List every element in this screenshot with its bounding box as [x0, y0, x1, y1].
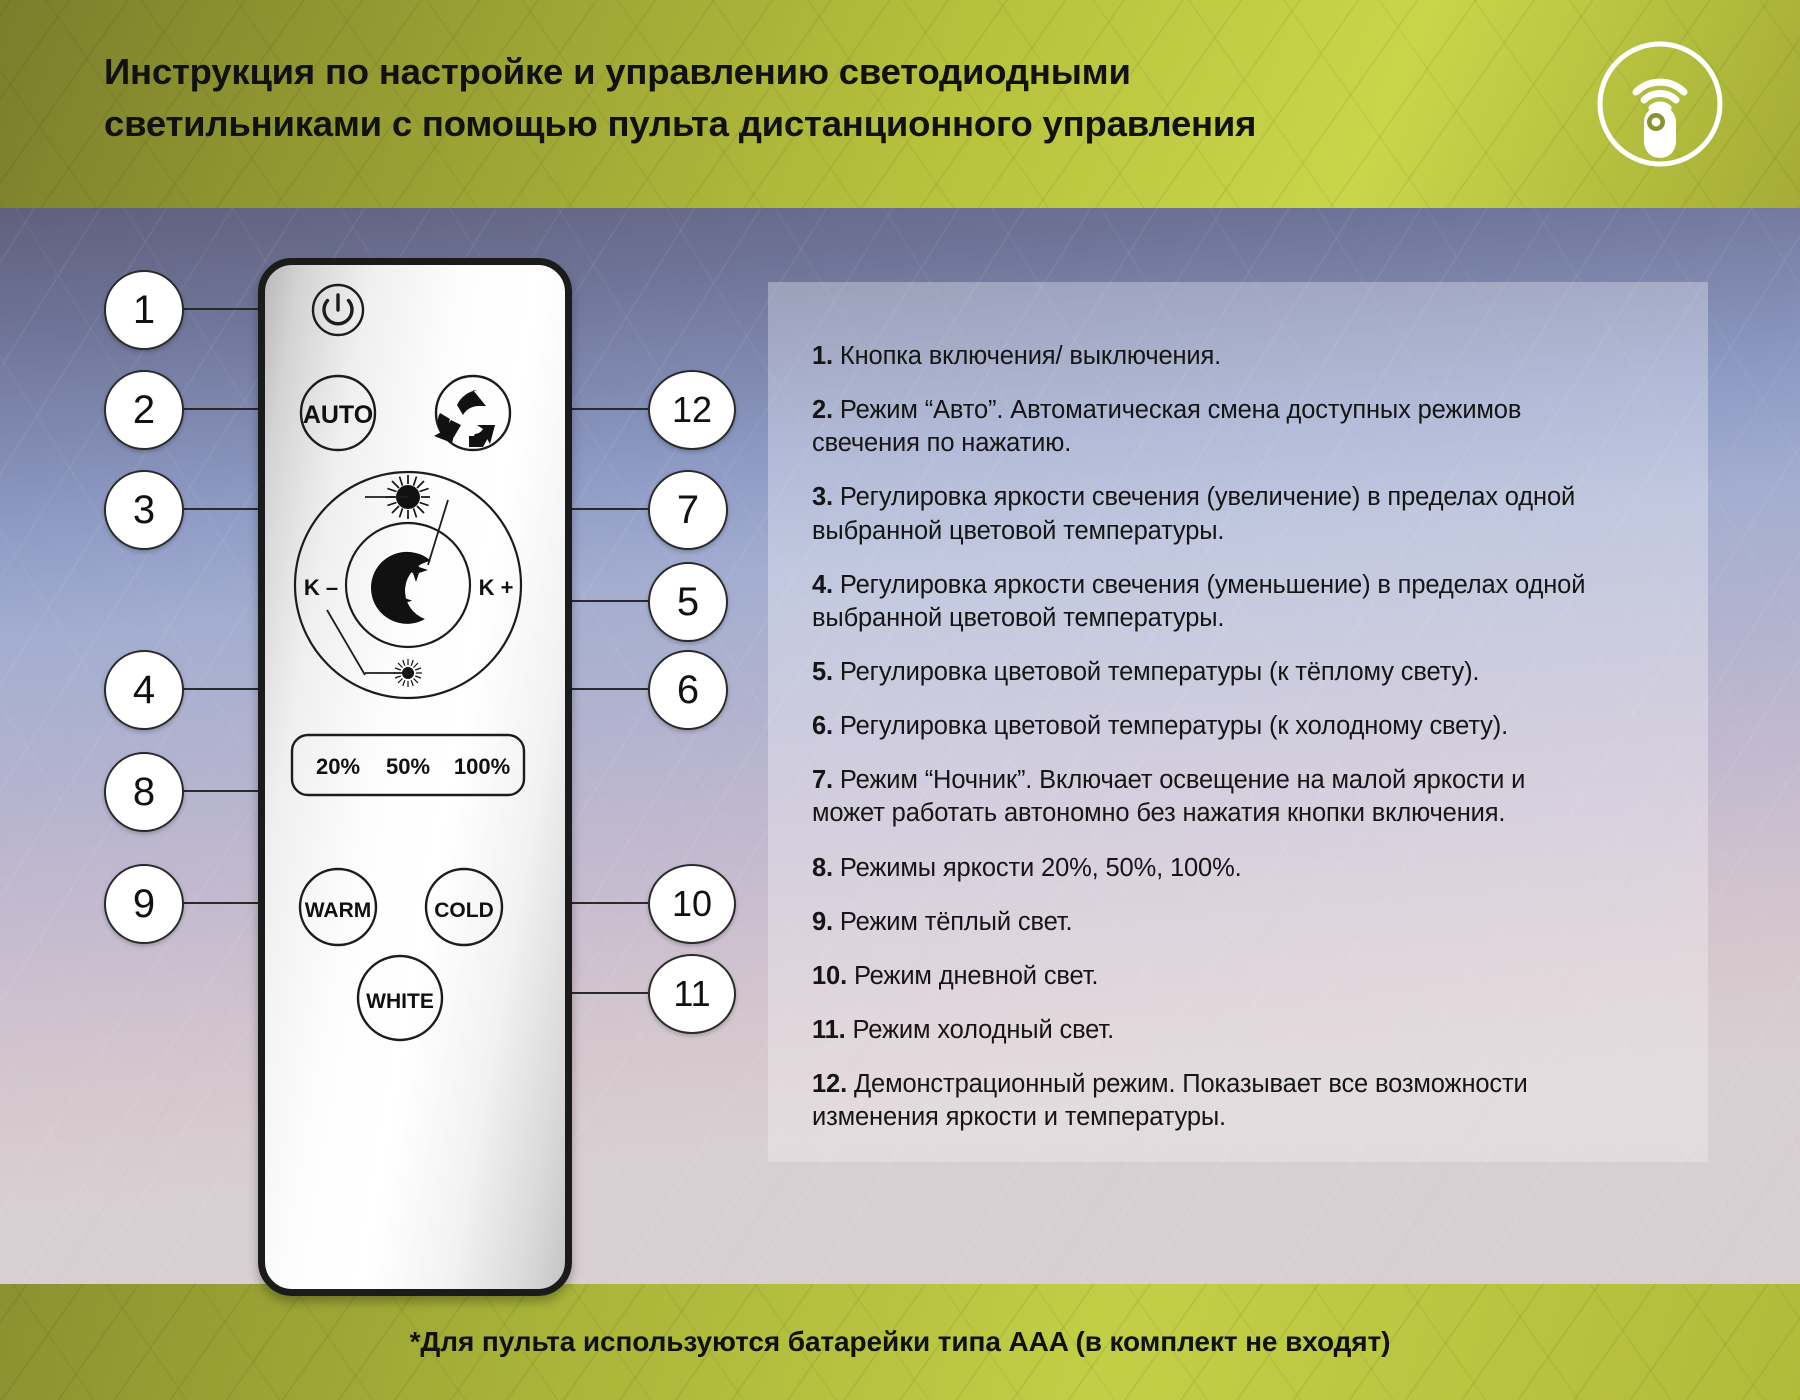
- callout-7[interactable]: 7: [648, 470, 728, 550]
- brightness-preset-bar[interactable]: 20% 50% 100%: [292, 735, 524, 795]
- preset-100[interactable]: 100%: [454, 754, 510, 779]
- preset-20[interactable]: 20%: [316, 754, 360, 779]
- legend-number: 11.: [812, 1016, 846, 1044]
- legend-number: 8.: [812, 854, 833, 882]
- legend-text: Режим “Авто”. Автоматическая смена досту…: [812, 396, 1521, 457]
- callout-12[interactable]: 12: [648, 370, 736, 450]
- legend-text: Регулировка яркости свечения (уменьшение…: [812, 571, 1585, 632]
- callout-11[interactable]: 11: [648, 954, 736, 1034]
- callout-label: 1: [133, 288, 155, 333]
- callout-label: 11: [673, 973, 710, 1015]
- list-item: 1. Кнопка включения/ выключения.: [812, 340, 1602, 373]
- callout-1[interactable]: 1: [104, 270, 184, 350]
- leader-line-9: [180, 902, 268, 904]
- remote-control-signal-icon: [1594, 38, 1726, 170]
- power-button[interactable]: [313, 285, 363, 335]
- recycle-loop-icon: [434, 390, 495, 447]
- legend-number: 9.: [812, 908, 833, 936]
- battery-note: *Для пульта используются батарейки типа …: [0, 1284, 1800, 1400]
- legend-list: 1. Кнопка включения/ выключения. 2. Режи…: [812, 340, 1602, 1155]
- list-item: 10. Режим дневной свет.: [812, 960, 1602, 993]
- list-item: 8. Режимы яркости 20%, 50%, 100%.: [812, 852, 1602, 885]
- page-title: Инструкция по настройке и управлению све…: [104, 46, 1334, 150]
- callout-label: 2: [133, 388, 155, 433]
- legend-number: 1.: [812, 342, 833, 370]
- callout-label: 8: [133, 770, 155, 815]
- moon-stars-icon: [371, 552, 431, 624]
- callout-label: 7: [677, 488, 699, 533]
- callout-label: 9: [133, 882, 155, 927]
- legend-number: 7.: [812, 766, 833, 794]
- legend-text: Режим холодный свет.: [853, 1016, 1114, 1044]
- callout-8[interactable]: 8: [104, 752, 184, 832]
- callout-5[interactable]: 5: [648, 562, 728, 642]
- callout-label: 10: [672, 883, 712, 925]
- legend-text: Режим дневной свет.: [854, 962, 1098, 990]
- internal-leader-6: [327, 610, 365, 675]
- legend-number: 6.: [812, 712, 833, 740]
- list-item: 5. Регулировка цветовой температуры (к т…: [812, 656, 1602, 689]
- infographic-page: Инструкция по настройке и управлению све…: [0, 0, 1800, 1400]
- legend-text: Режимы яркости 20%, 50%, 100%.: [840, 854, 1242, 882]
- callout-4[interactable]: 4: [104, 650, 184, 730]
- callout-3[interactable]: 3: [104, 470, 184, 550]
- night-mode-button[interactable]: [346, 523, 470, 647]
- callout-2[interactable]: 2: [104, 370, 184, 450]
- legend-text: Демонстрационный режим. Показывает все в…: [812, 1070, 1528, 1131]
- list-item: 3. Регулировка яркости свечения (увеличе…: [812, 481, 1602, 547]
- white-label: WHITE: [366, 990, 434, 1013]
- legend-number: 5.: [812, 658, 833, 686]
- list-item: 9. Режим тёплый свет.: [812, 906, 1602, 939]
- warm-label: WARM: [305, 899, 372, 922]
- header-banner: Инструкция по настройке и управлению све…: [0, 0, 1800, 208]
- kelvin-minus-button[interactable]: K –: [304, 575, 338, 600]
- warm-button[interactable]: WARM: [300, 869, 376, 945]
- callout-6[interactable]: 6: [648, 650, 728, 730]
- callout-label: 12: [672, 389, 712, 431]
- legend-text: Регулировка цветовой температуры (к холо…: [840, 712, 1508, 740]
- list-item: 11. Режим холодный свет.: [812, 1014, 1602, 1047]
- footer-banner: *Для пульта используются батарейки типа …: [0, 1284, 1800, 1400]
- legend-text: Режим “Ночник”. Включает освещение на ма…: [812, 766, 1525, 827]
- list-item: 12. Демонстрационный режим. Показывает в…: [812, 1068, 1602, 1134]
- legend-number: 10.: [812, 962, 847, 990]
- svg-text:AUTO: AUTO: [303, 401, 373, 429]
- remote-face-graphics: AUTO: [265, 265, 551, 1275]
- list-item: 4. Регулировка яркости свечения (уменьше…: [812, 569, 1602, 635]
- demo-mode-button[interactable]: [434, 376, 510, 450]
- list-item: 2. Режим “Авто”. Автоматическая смена до…: [812, 394, 1602, 460]
- callout-label: 6: [677, 668, 699, 713]
- legend-number: 3.: [812, 483, 833, 511]
- legend-text: Кнопка включения/ выключения.: [840, 342, 1221, 370]
- internal-leader-7: [428, 500, 448, 565]
- legend-number: 4.: [812, 571, 833, 599]
- white-button[interactable]: WHITE: [358, 956, 442, 1040]
- list-item: 7. Режим “Ночник”. Включает освещение на…: [812, 764, 1602, 830]
- legend-text: Регулировка цветовой температуры (к тёпл…: [840, 658, 1479, 686]
- callout-10[interactable]: 10: [648, 864, 736, 944]
- preset-50[interactable]: 50%: [386, 754, 430, 779]
- list-item: 6. Регулировка цветовой температуры (к х…: [812, 710, 1602, 743]
- legend-number: 12.: [812, 1070, 847, 1098]
- callout-label: 3: [133, 488, 155, 533]
- callout-label: 4: [133, 668, 155, 713]
- callout-label: 5: [677, 580, 699, 625]
- legend-text: Регулировка яркости свечения (увеличение…: [812, 483, 1575, 544]
- legend-text: Режим тёплый свет.: [840, 908, 1073, 936]
- callout-9[interactable]: 9: [104, 864, 184, 944]
- auto-button[interactable]: AUTO: [301, 376, 375, 450]
- kelvin-plus-button[interactable]: K +: [479, 575, 514, 600]
- cold-label: COLD: [434, 899, 494, 922]
- legend-number: 2.: [812, 396, 833, 424]
- leader-line-2: [180, 408, 265, 410]
- cold-button[interactable]: COLD: [426, 869, 502, 945]
- remote-control-body: AUTO: [258, 258, 572, 1296]
